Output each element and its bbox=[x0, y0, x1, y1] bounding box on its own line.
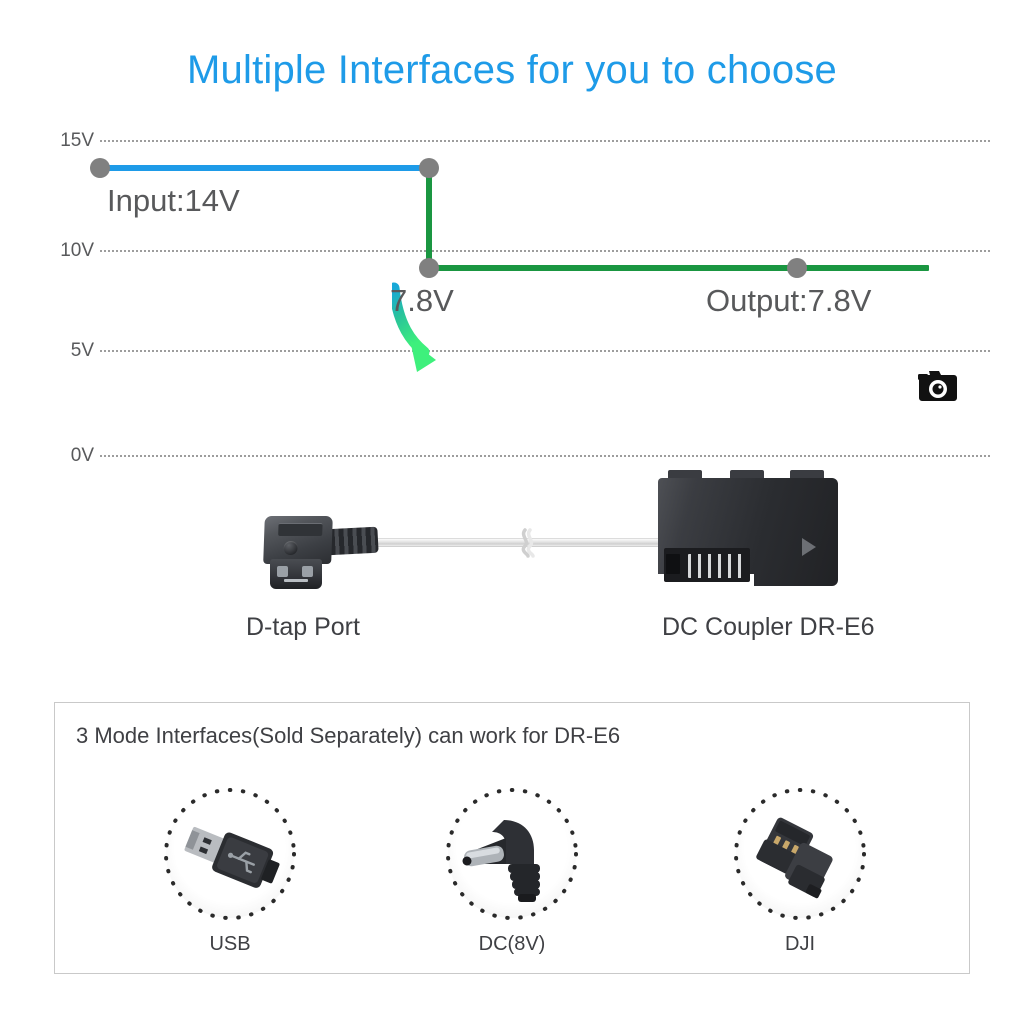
coupler-contact-pins bbox=[688, 554, 742, 578]
dji-circle bbox=[736, 790, 864, 918]
product-photo-area: D-tap Port DC Coupler DR-E6 bbox=[0, 455, 1024, 665]
d-tap-slot bbox=[278, 523, 322, 536]
coupler-tab bbox=[666, 554, 680, 574]
usb-circle bbox=[166, 790, 294, 918]
cable-strain-relief bbox=[325, 527, 378, 556]
input-value-label: Input:14V bbox=[107, 183, 240, 219]
dji-connector-icon bbox=[736, 790, 864, 918]
dc-coupler-icon bbox=[658, 470, 838, 590]
coupler-body bbox=[658, 478, 838, 586]
gridline-10v bbox=[100, 250, 990, 252]
mode-item-dji[interactable]: DJI bbox=[700, 790, 900, 956]
d-tap-pin-left bbox=[277, 566, 288, 577]
d-tap-contact-bar bbox=[284, 579, 308, 582]
dc-barrel-plug-icon bbox=[448, 790, 576, 918]
axis-label-15v: 15V bbox=[48, 131, 94, 150]
cable-break-icon bbox=[514, 528, 540, 558]
d-tap-body bbox=[263, 516, 333, 564]
node-output-start bbox=[419, 258, 439, 278]
mode-label-usb: USB bbox=[130, 932, 330, 956]
dc-circle bbox=[448, 790, 576, 918]
dc-coupler-caption: DC Coupler DR-E6 bbox=[662, 612, 875, 642]
input-series-line bbox=[100, 165, 435, 171]
d-tap-screw bbox=[283, 541, 297, 555]
mode-label-dji: DJI bbox=[700, 932, 900, 956]
camera-icon bbox=[916, 368, 960, 404]
d-tap-plug-head bbox=[270, 559, 322, 589]
mode-item-usb[interactable]: USB bbox=[130, 790, 330, 956]
axis-label-5v: 5V bbox=[48, 341, 94, 360]
axis-label-10v: 10V bbox=[48, 241, 94, 260]
d-tap-pin-right bbox=[302, 566, 313, 577]
usb-connector-icon bbox=[166, 790, 294, 918]
coupler-direction-triangle bbox=[802, 538, 816, 556]
gridline-15v bbox=[100, 140, 990, 142]
modes-panel-heading: 3 Mode Interfaces(Sold Separately) can w… bbox=[76, 722, 620, 750]
mode-label-dc: DC(8V) bbox=[412, 932, 612, 956]
d-tap-caption: D-tap Port bbox=[246, 612, 360, 642]
page-title: Multiple Interfaces for you to choose bbox=[0, 45, 1024, 95]
node-input-start bbox=[90, 158, 110, 178]
node-output-mid bbox=[787, 258, 807, 278]
gridline-5v bbox=[100, 350, 990, 352]
output-series-line bbox=[429, 265, 929, 271]
output-value-label: Output:7.8V bbox=[706, 283, 871, 319]
node-input-end bbox=[419, 158, 439, 178]
d-tap-connector-icon bbox=[258, 516, 378, 594]
converted-value-label: 7.8V bbox=[390, 283, 454, 319]
mode-item-dc[interactable]: DC(8V) bbox=[412, 790, 612, 956]
step-down-series-line bbox=[426, 168, 432, 271]
voltage-chart: 15V 10V 5V 0V Input:14V 7.8V Output:7.8V bbox=[0, 120, 1024, 480]
